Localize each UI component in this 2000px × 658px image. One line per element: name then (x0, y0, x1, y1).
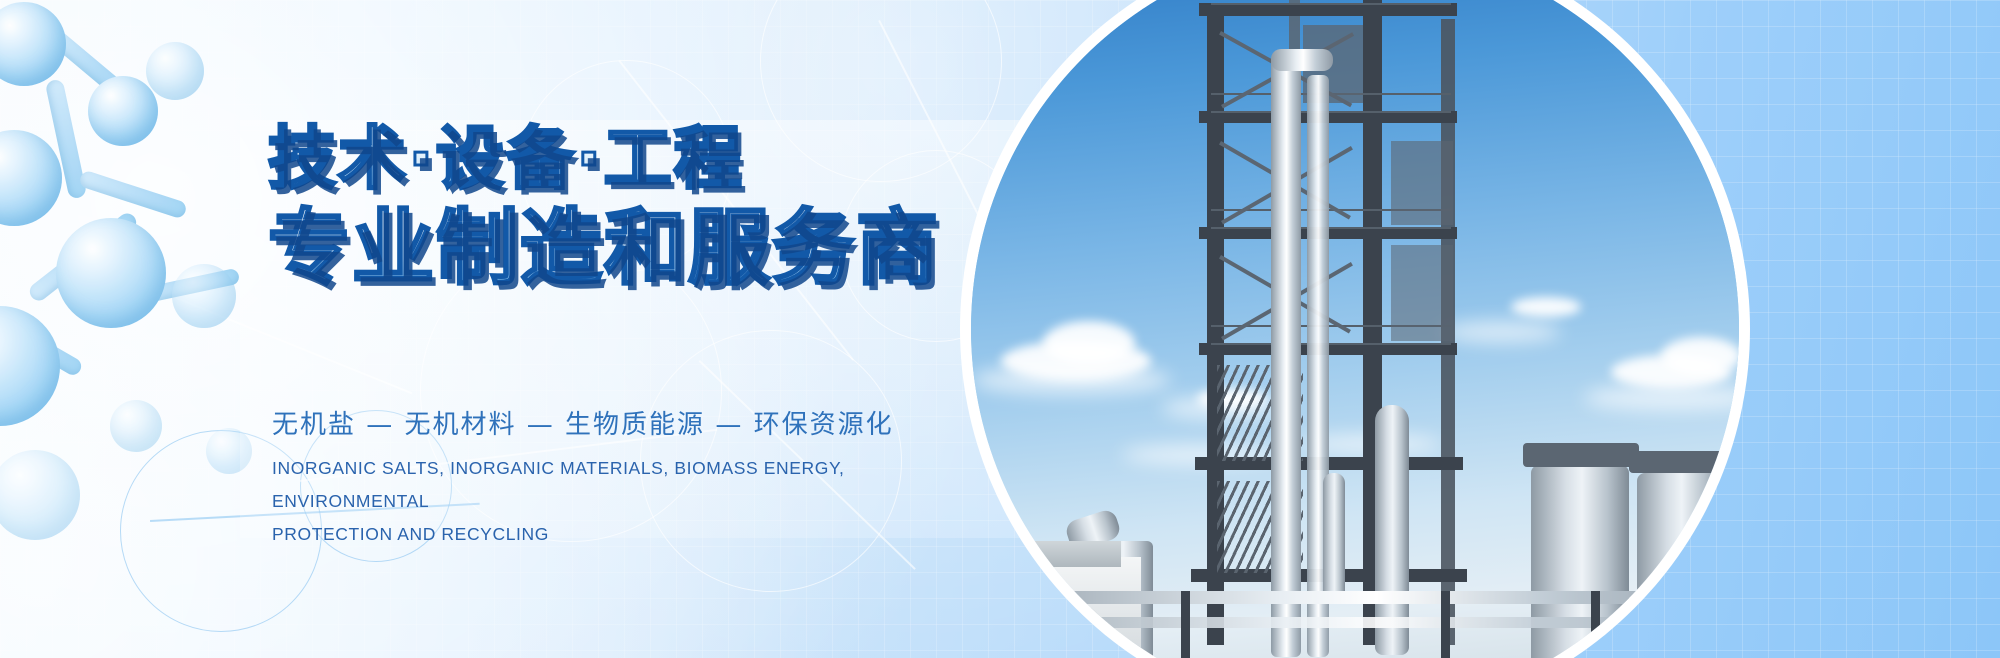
subtitle-chinese: 无机盐 — 无机材料 — 生物质能源 — 环保资源化 (272, 404, 894, 441)
headline-line-1: 技术·设备·工程 (268, 126, 1028, 194)
headline-line-2: 专业制造和服务商 (268, 208, 1028, 290)
circular-photo-frame (960, 0, 1750, 658)
industrial-plant-photo (971, 0, 1739, 658)
molecule-structure-illustration (0, 0, 390, 658)
subtitle-english: INORGANIC SALTS, INORGANIC MATERIALS, BI… (272, 452, 932, 551)
headline-block: 技术·设备·工程 专业制造和服务商 (268, 126, 1028, 290)
subtitle-english-line-2: PROTECTION AND RECYCLING (272, 518, 932, 551)
subtitle-english-line-1: INORGANIC SALTS, INORGANIC MATERIALS, BI… (272, 452, 932, 518)
hero-banner: 技术·设备·工程 专业制造和服务商 无机盐 — 无机材料 — 生物质能源 — 环… (0, 0, 2000, 658)
